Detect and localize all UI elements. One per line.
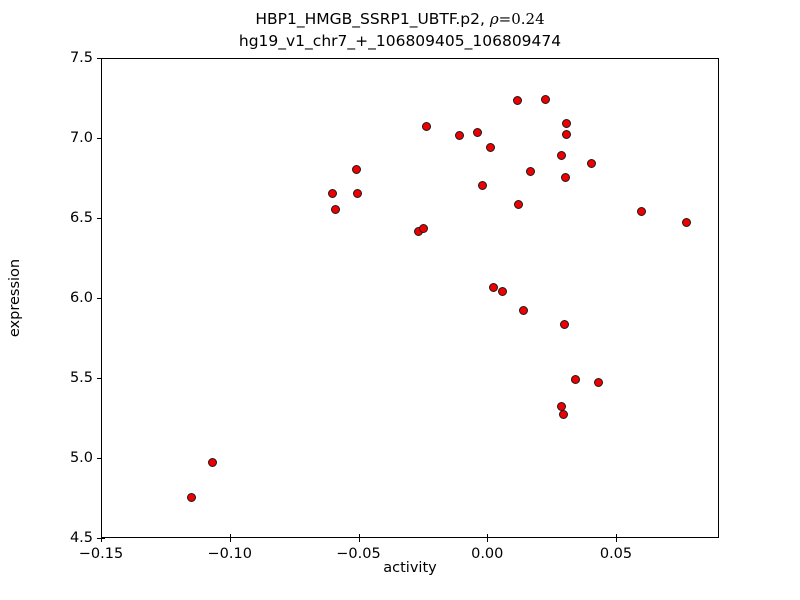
x-tick-mark-inner bbox=[487, 534, 488, 538]
data-point bbox=[486, 143, 495, 152]
x-axis-label: activity bbox=[101, 560, 719, 576]
data-point bbox=[514, 200, 523, 209]
data-point bbox=[187, 493, 196, 502]
y-tick-label: 5.0 bbox=[70, 450, 93, 466]
data-point bbox=[594, 378, 603, 387]
chart-title-motif: HBP1_HMGB_SSRP1_UBTF.p2, bbox=[255, 10, 489, 28]
data-point bbox=[519, 306, 528, 315]
chart-title: HBP1_HMGB_SSRP1_UBTF.p2, ρ=0.24 hg19_v1_… bbox=[0, 8, 800, 52]
data-point bbox=[587, 159, 596, 168]
plot-data-area bbox=[102, 59, 718, 537]
data-point bbox=[478, 181, 487, 190]
x-tick-mark-inner bbox=[230, 534, 231, 538]
y-tick-label: 7.5 bbox=[70, 50, 93, 66]
data-point bbox=[561, 173, 570, 182]
rho-symbol: ρ bbox=[490, 10, 499, 28]
data-point bbox=[489, 283, 498, 292]
data-point bbox=[328, 189, 337, 198]
data-point bbox=[560, 320, 569, 329]
x-tick-mark bbox=[359, 538, 360, 542]
plot-axes-frame bbox=[101, 58, 719, 538]
data-point bbox=[637, 207, 646, 216]
rho-value: =0.24 bbox=[499, 10, 545, 28]
data-point bbox=[208, 458, 217, 467]
data-point bbox=[498, 287, 507, 296]
data-point bbox=[473, 128, 482, 137]
data-point bbox=[571, 375, 580, 384]
x-tick-mark bbox=[487, 538, 488, 542]
data-point bbox=[559, 410, 568, 419]
data-point bbox=[557, 151, 566, 160]
chart-title-line-1: HBP1_HMGB_SSRP1_UBTF.p2, ρ=0.24 bbox=[0, 8, 800, 30]
data-point bbox=[331, 205, 340, 214]
scatter-plot-figure: HBP1_HMGB_SSRP1_UBTF.p2, ρ=0.24 hg19_v1_… bbox=[0, 0, 800, 600]
y-tick-label: 6.0 bbox=[70, 290, 93, 306]
x-tick-mark bbox=[230, 538, 231, 542]
chart-title-line-2: hg19_v1_chr7_+_106809405_106809474 bbox=[0, 30, 800, 52]
data-point bbox=[455, 131, 464, 140]
x-tick-mark-inner bbox=[359, 534, 360, 538]
data-point bbox=[682, 218, 691, 227]
y-tick-label: 6.5 bbox=[70, 210, 93, 226]
data-point bbox=[562, 119, 571, 128]
y-axis-ticks: 4.55.05.56.06.57.07.5 bbox=[0, 58, 101, 538]
data-point bbox=[353, 189, 362, 198]
x-tick-mark-inner bbox=[101, 534, 102, 538]
y-tick-label: 7.0 bbox=[70, 130, 93, 146]
data-point bbox=[419, 224, 428, 233]
data-point bbox=[526, 167, 535, 176]
x-tick-mark bbox=[616, 538, 617, 542]
data-point bbox=[562, 130, 571, 139]
data-point bbox=[541, 95, 550, 104]
data-point bbox=[513, 96, 522, 105]
x-tick-mark-inner bbox=[616, 534, 617, 538]
y-tick-label: 4.5 bbox=[70, 530, 93, 546]
data-point bbox=[352, 165, 361, 174]
y-tick-label: 5.5 bbox=[70, 370, 93, 386]
x-tick-mark bbox=[101, 538, 102, 542]
data-point bbox=[422, 122, 431, 131]
